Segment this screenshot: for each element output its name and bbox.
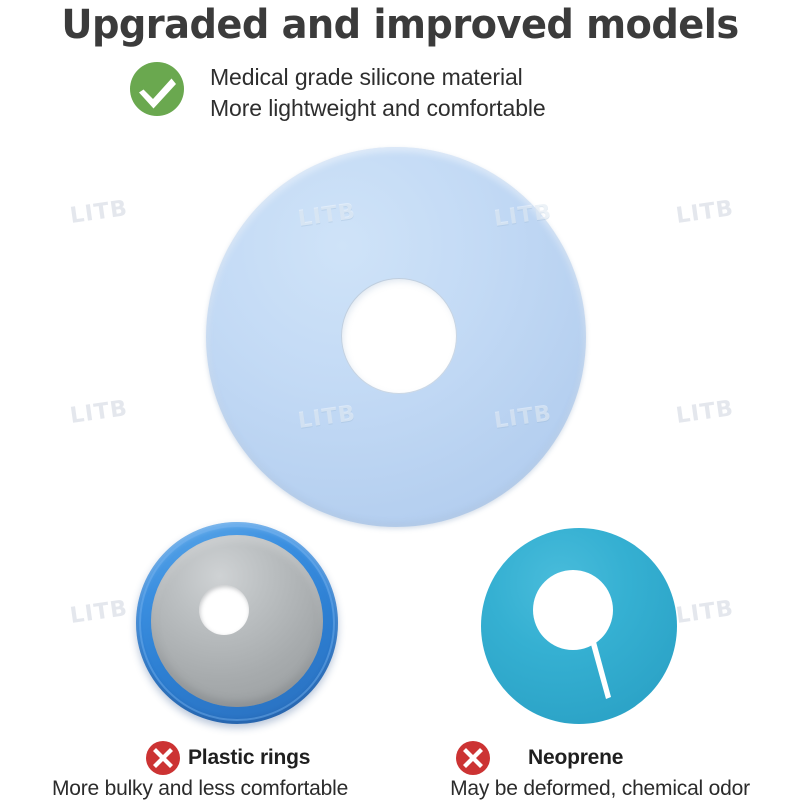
red-x-circle-icon [145, 740, 181, 776]
red-x-circle-icon [455, 740, 491, 776]
infographic-page: Upgraded and improved models Medical gra… [0, 0, 800, 800]
silicone-ring-image: LITB LITB LITB LITB [206, 147, 586, 527]
silicone-ring-hole [341, 278, 457, 394]
watermark: LITB [675, 596, 736, 629]
plastic-ring-label: Plastic rings [188, 746, 310, 770]
watermark: LITB [675, 396, 736, 429]
plastic-ring-hole [199, 585, 249, 635]
pros-line-2: More lightweight and comfortable [210, 93, 640, 124]
neoprene-ring-description: May be deformed, chemical odor [400, 777, 800, 800]
green-check-circle-icon [128, 60, 186, 118]
plastic-ring-image [136, 522, 338, 724]
pros-line-1: Medical grade silicone material [210, 62, 640, 93]
pros-text: Medical grade silicone material More lig… [210, 62, 640, 124]
watermark: LITB [675, 196, 736, 229]
watermark: LITB [69, 396, 130, 429]
watermark: LITB [69, 196, 130, 229]
neoprene-ring-label: Neoprene [528, 746, 623, 770]
page-title: Upgraded and improved models [16, 2, 784, 48]
neoprene-ring-image [480, 527, 678, 725]
plastic-ring-description: More bulky and less comfortable [0, 777, 400, 800]
watermark: LITB [69, 596, 130, 629]
